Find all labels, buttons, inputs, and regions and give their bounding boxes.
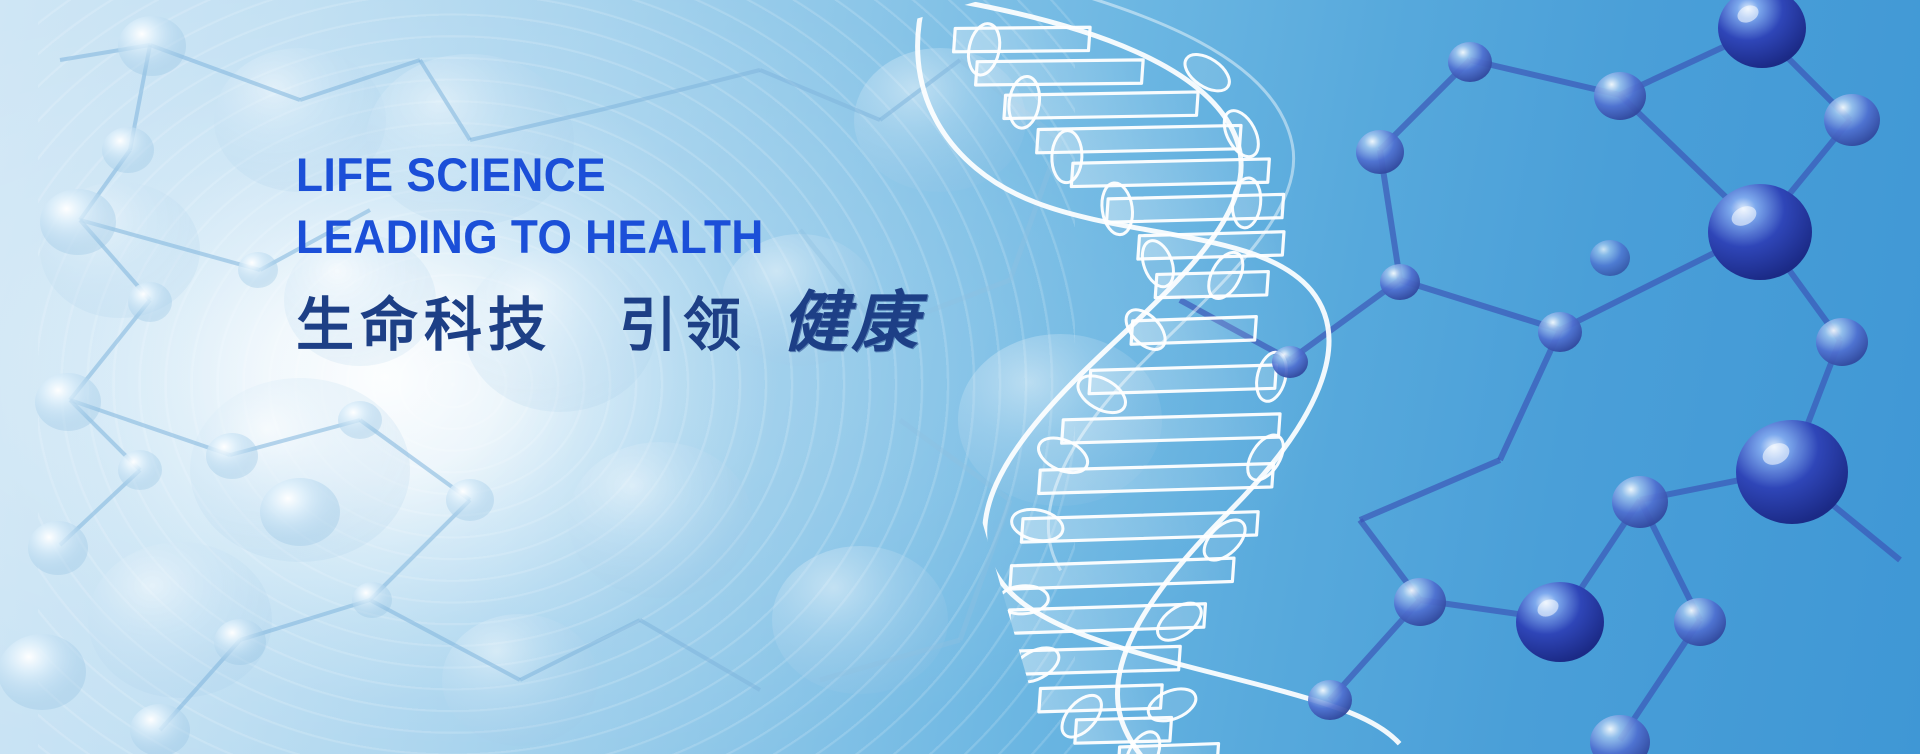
atom-sphere-group-right xyxy=(0,0,1920,754)
headline-block: LIFE SCIENCE LEADING TO HEALTH 生命科技 引领 健… xyxy=(296,146,1056,362)
subheadline-part-2: 引领 xyxy=(619,293,747,358)
subheadline-chinese: 生命科技 引领 健康 xyxy=(296,286,1056,362)
subheadline-brush-part: 健康 xyxy=(782,283,922,361)
hero-banner: LIFE SCIENCE LEADING TO HEALTH 生命科技 引领 健… xyxy=(0,0,1920,754)
subheadline-part-1: 生命科技 xyxy=(296,293,552,358)
headline-line-1: LIFE SCIENCE xyxy=(296,146,1010,204)
headline-line-2: LEADING TO HEALTH xyxy=(296,208,1010,266)
